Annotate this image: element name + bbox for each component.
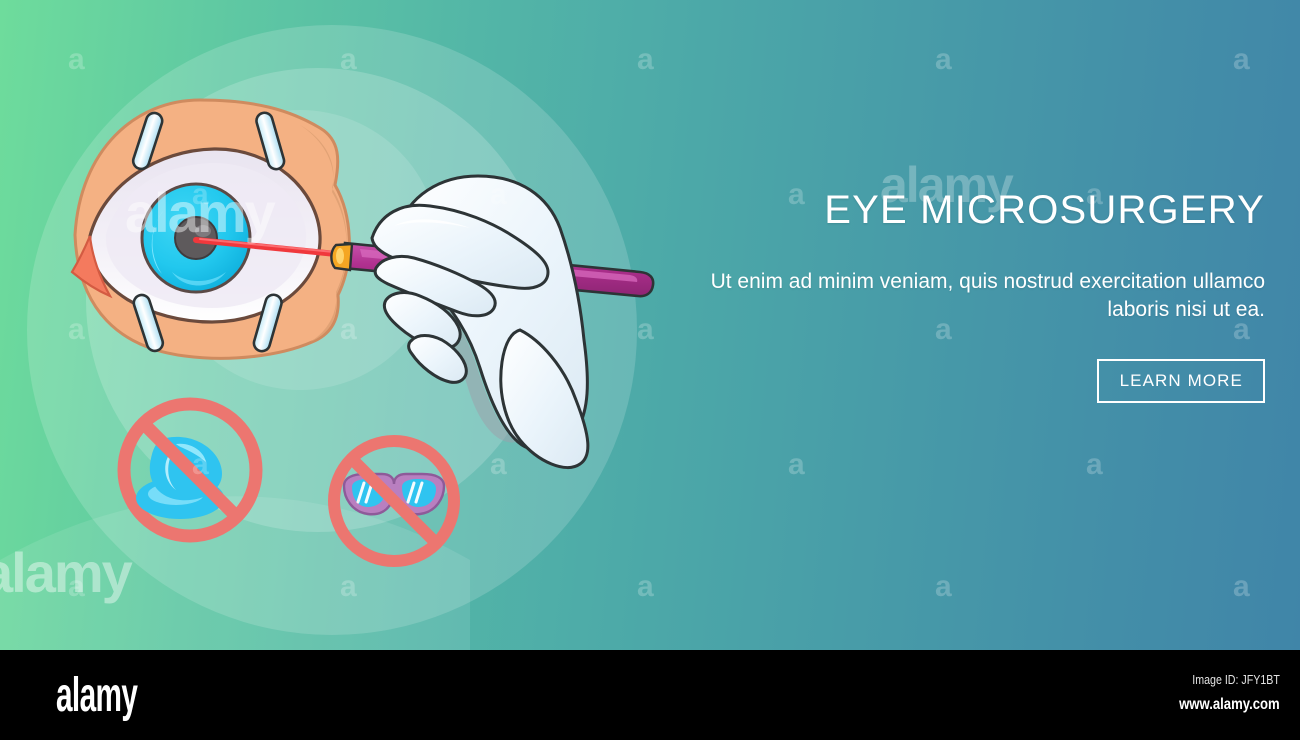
eye-diagram bbox=[72, 100, 349, 358]
pupil-highlight bbox=[195, 225, 211, 237]
learn-more-button[interactable]: LEARN MORE bbox=[1097, 359, 1265, 403]
banner-copy-block: EYE MICROSURGERY Ut enim ad minim veniam… bbox=[700, 190, 1265, 403]
banner-subtitle: Ut enim ad minim veniam, quis nostrud ex… bbox=[700, 268, 1265, 323]
cta-wrapper: LEARN MORE bbox=[700, 359, 1265, 403]
image-id-label: Image ID: JFY1BT bbox=[1192, 672, 1280, 687]
page-title: EYE MICROSURGERY bbox=[700, 190, 1265, 230]
screenshot-root: a a a a a a a a a alamy a a a a a alamy … bbox=[0, 0, 1300, 740]
alamy-logo: alamy bbox=[56, 672, 137, 720]
stock-photo-footer: alamy Image ID: JFY1BT www.alamy.com bbox=[0, 650, 1300, 740]
banner-artboard: a a a a a a a a a alamy a a a a a alamy … bbox=[0, 0, 1300, 650]
alamy-url-label[interactable]: www.alamy.com bbox=[1179, 696, 1280, 714]
